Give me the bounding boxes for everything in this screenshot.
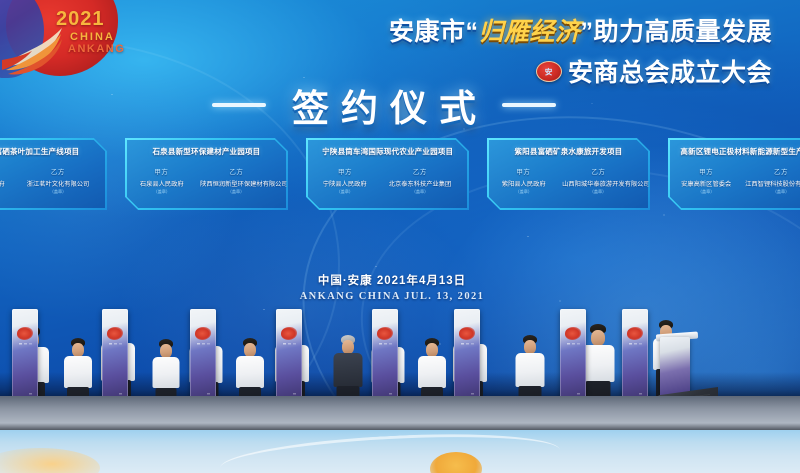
party-b-role: 乙方 [197, 166, 275, 176]
subtitle-dash-left [212, 103, 266, 107]
party-b: 乙方 浙江茗叶文化有限公司 （盖章） [24, 166, 92, 195]
person-torso [334, 353, 363, 387]
party-b: 乙方 江西智锂科技股份有限公司 （盖章） [742, 166, 800, 195]
placard-flame-icon [107, 327, 123, 340]
party-a-role: 甲方 [0, 166, 7, 176]
placard-flame-icon [17, 327, 33, 340]
title-prefix: 安康市“ [389, 18, 479, 46]
title-suffix: ”助力高质量发展 [580, 18, 772, 46]
project-title: 紫阳县富硒矿泉水康旅开发项目 [515, 146, 623, 156]
party-b-name: 浙江茗叶文化有限公司 [27, 178, 90, 187]
flying-goose-icon [2, 26, 76, 80]
subtitle-dash-right [502, 103, 556, 107]
logo-city: ANKANG [68, 43, 125, 55]
project-panel: 宁陕县筒车湾国际现代农业产业园项目 甲方 宁陕县人民政府 （盖章） 乙方 北京泰… [306, 138, 469, 210]
party-b-seal: （盖章） [389, 189, 450, 194]
party-b: 乙方 陕西恒润新型环保建材有限公司 （盖章） [197, 166, 275, 195]
event-date-block: 中国·安康 2021年4月13日 ANKANG CHINA JUL. 13, 2… [262, 272, 522, 302]
ceremony-subtitle: 签约仪式 [168, 78, 600, 132]
party-b-role: 乙方 [742, 166, 800, 176]
event-place-date-en: ANKANG CHINA JUL. 13, 2021 [262, 291, 522, 302]
placard-flame-icon [627, 327, 643, 340]
event-logo: 2021 CHINA ANKANG [0, 0, 128, 86]
party-a-role: 甲方 [138, 166, 186, 176]
placard-text-lines [195, 343, 211, 403]
placard-flame-icon [281, 327, 297, 340]
person-torso [64, 356, 92, 388]
party-b-name: 山西阳城华泰旅游开发有限公司 [562, 178, 634, 187]
project-panel: 紫阳县富硒茶叶加工生产线项目 甲方 紫阳县人民政府 （盖章） 乙方 浙江茗叶文化… [0, 138, 107, 210]
seal-label: 安 [545, 65, 553, 76]
subtitle-text: 签约仪式 [280, 78, 488, 132]
person-torso [236, 356, 264, 388]
party-b-seal: （盖章） [563, 189, 633, 194]
party-b-seal: （盖章） [746, 189, 800, 194]
party-b-seal: （盖章） [27, 189, 88, 194]
party-b-seal: （盖章） [201, 189, 271, 194]
logo-year: 2021 [56, 8, 105, 31]
party-b-role: 乙方 [559, 166, 637, 176]
placard-flame-icon [565, 327, 581, 340]
person-torso [516, 353, 545, 387]
project-panel: 紫阳县富硒矿泉水康旅开发项目 甲方 紫阳县人民政府 （盖章） 乙方 山西阳城华泰… [487, 138, 650, 210]
person-torso [582, 345, 615, 382]
party-b-role: 乙方 [24, 166, 92, 176]
placard-text-lines [459, 343, 475, 403]
stage-photo: 2021 CHINA ANKANG 安康市“归雁经济”助力高质量发展 安 安商总… [0, 0, 800, 473]
placard-text-lines [627, 343, 643, 403]
logo-country: CHINA [70, 31, 115, 43]
party-a: 甲方 安康高新区管委会 （盖章） [679, 166, 733, 195]
party-a: 甲方 紫阳县人民政府 （盖章） [500, 166, 548, 195]
party-a: 甲方 宁陕县人民政府 （盖章） [321, 166, 369, 195]
party-a-seal: （盖章） [682, 189, 731, 194]
title-highlight: 归雁经济 [478, 18, 580, 46]
party-a-seal: （盖章） [502, 189, 545, 194]
person-head [426, 343, 438, 357]
party-b: 乙方 北京泰东科技产业集团 （盖章） [386, 166, 454, 195]
party-a-role: 甲方 [321, 166, 369, 176]
party-a-seal: （盖章） [140, 189, 183, 194]
placard-text-lines [377, 343, 393, 403]
party-a-name: 安康高新区管委会 [681, 178, 731, 187]
party-b-name: 江西智锂科技股份有限公司 [745, 178, 800, 187]
party-a-seal: （盖章） [324, 189, 367, 194]
party-b-name: 陕西恒润新型环保建材有限公司 [200, 178, 272, 187]
party-a-role: 甲方 [679, 166, 733, 176]
placard-flame-icon [459, 327, 475, 340]
placard-text-lines [565, 343, 581, 403]
person-head [160, 344, 172, 358]
event-title-line-1: 安康市“归雁经济”助力高质量发展 [272, 12, 772, 48]
party-a: 甲方 紫阳县人民政府 （盖章） [0, 166, 7, 195]
party-a-name: 宁陕县人民政府 [323, 178, 367, 187]
party-a-name: 紫阳县人民政府 [502, 178, 546, 187]
project-title: 石泉县新型环保建材产业园项目 [153, 146, 261, 156]
project-title: 高新区锂电正极材料新能源新型生产项目 [680, 146, 800, 156]
person-torso [418, 356, 446, 388]
party-a-role: 甲方 [500, 166, 548, 176]
placard-text-lines [17, 343, 33, 403]
person-head [342, 340, 354, 354]
project-title: 宁陕县筒车湾国际现代农业产业园项目 [322, 146, 453, 156]
person-head [244, 343, 256, 357]
placard-flame-icon [377, 327, 393, 340]
event-place-date-cn: 中国·安康 2021年4月13日 [262, 272, 522, 288]
person-torso [153, 357, 180, 388]
party-a-name: 紫阳县人民政府 [0, 178, 5, 187]
party-b-role: 乙方 [386, 166, 454, 176]
party-a-name: 石泉县人民政府 [140, 178, 184, 187]
project-panel-row: 紫阳县富硒茶叶加工生产线项目 甲方 紫阳县人民政府 （盖章） 乙方 浙江茗叶文化… [0, 138, 800, 216]
placard-flame-icon [195, 327, 211, 340]
party-b-name: 北京泰东科技产业集团 [389, 178, 452, 187]
project-panel: 高新区锂电正极材料新能源新型生产项目 甲方 安康高新区管委会 （盖章） 乙方 江… [668, 138, 800, 210]
stage-floor [0, 396, 800, 432]
party-b: 乙方 山西阳城华泰旅游开发有限公司 （盖章） [559, 166, 637, 195]
project-title: 紫阳县富硒茶叶加工生产线项目 [0, 146, 79, 156]
project-panel: 石泉县新型环保建材产业园项目 甲方 石泉县人民政府 （盖章） 乙方 陕西恒润新型… [125, 138, 288, 210]
party-a-seal: （盖章） [0, 189, 4, 194]
placard-text-lines [281, 343, 297, 403]
party-a: 甲方 石泉县人民政府 （盖章） [138, 166, 186, 195]
person-head [72, 343, 84, 357]
placard-text-lines [107, 343, 123, 403]
person-head [524, 340, 536, 354]
person-head [591, 330, 605, 346]
